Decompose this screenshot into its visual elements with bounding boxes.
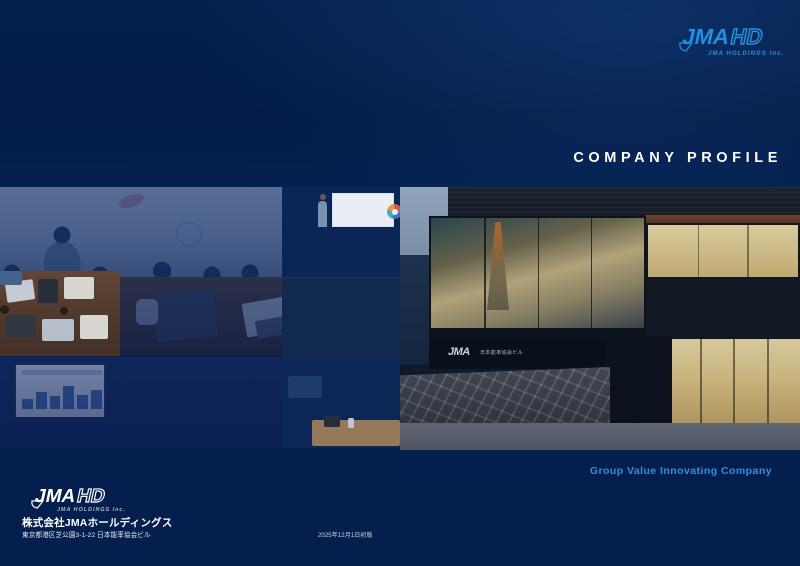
company-address: 東京都港区芝公園3-1-22 日本能率協会ビル bbox=[22, 529, 151, 539]
svg-text:HD: HD bbox=[75, 486, 107, 507]
photo-desk-overhead-bright bbox=[0, 271, 120, 356]
photo-lecture-presentation bbox=[0, 187, 282, 279]
svg-text:JMA: JMA bbox=[680, 24, 732, 49]
photo-collage: JMA 日本能率協会ビル bbox=[0, 187, 800, 450]
collage-seam bbox=[0, 356, 282, 357]
photo-blue-tint bbox=[0, 271, 120, 356]
svg-text:HD: HD bbox=[728, 24, 765, 49]
company-name: 株式会社JMAホールディングス bbox=[22, 515, 172, 530]
photo-blue-tint bbox=[282, 187, 400, 278]
cover-page: JMA HD JMA HOLDINGS Inc. COMPANY PROFILE bbox=[0, 0, 800, 566]
svg-text:JMA HOLDINGS Inc.: JMA HOLDINGS Inc. bbox=[708, 51, 784, 57]
photo-open-office-meeting bbox=[282, 360, 400, 448]
page-title: COMPANY PROFILE bbox=[573, 150, 782, 166]
svg-text:JMA HOLDINGS Inc.: JMA HOLDINGS Inc. bbox=[57, 507, 126, 513]
photo-audience-dashboard bbox=[0, 357, 282, 450]
photo-blue-tint bbox=[282, 360, 400, 448]
svg-text:JMA: JMA bbox=[33, 486, 78, 507]
photo-blue-tint bbox=[400, 187, 800, 450]
tagline: Group Value Innovating Company bbox=[590, 465, 772, 477]
photo-blue-tint bbox=[0, 357, 282, 450]
photo-jma-building-exterior: JMA 日本能率協会ビル bbox=[400, 187, 800, 450]
jmahd-logo-footer: JMA HD JMA HOLDINGS Inc. bbox=[24, 484, 134, 514]
jmahd-logo-header: JMA HD JMA HOLDINGS Inc. bbox=[672, 22, 784, 60]
collage-gap bbox=[282, 278, 400, 360]
photo-seminar-room bbox=[282, 187, 400, 278]
issue-date: 2025年12月1日初版 bbox=[318, 530, 373, 539]
photo-blue-tint bbox=[0, 187, 282, 279]
